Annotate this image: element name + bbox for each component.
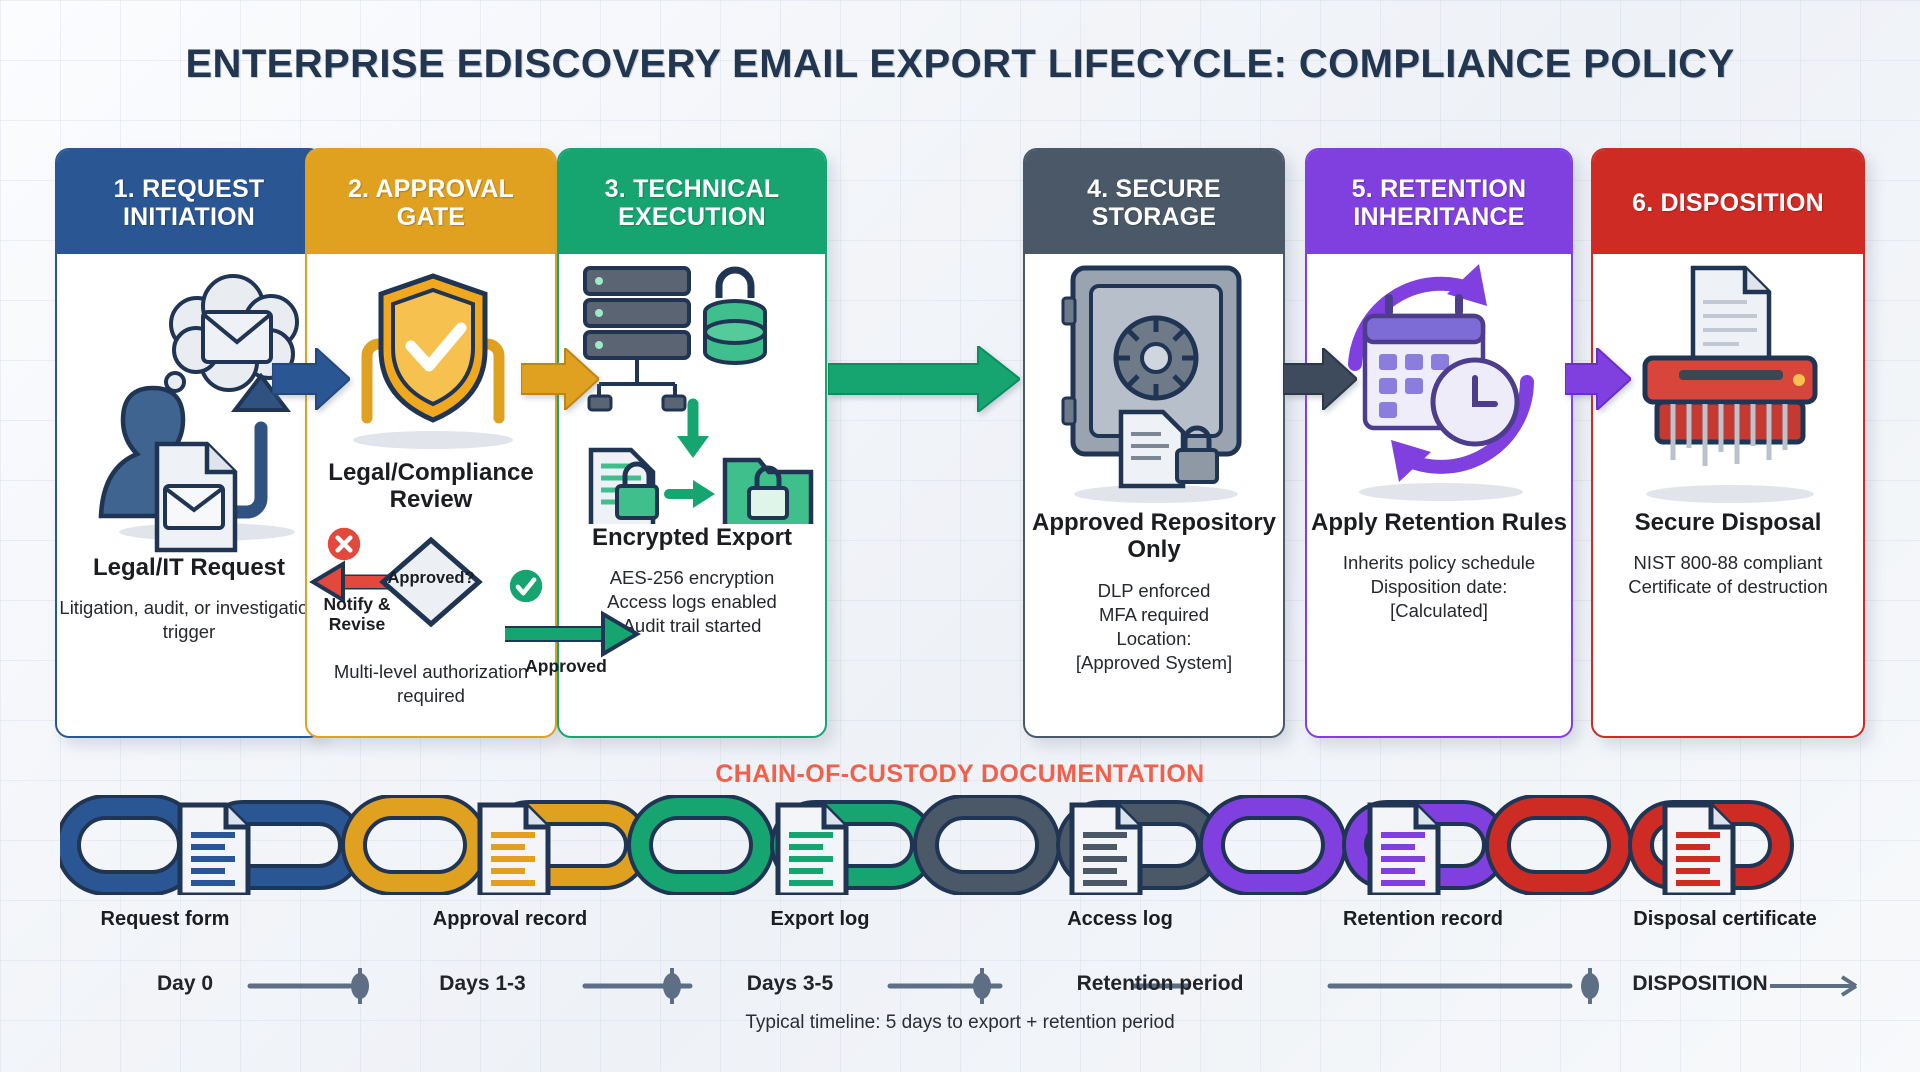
stage-card-header: 3. TECHNICAL EXECUTION (559, 150, 825, 254)
chain-of-custody-graphic (60, 795, 1860, 895)
stage-card-heading: Apply Retention Rules (1311, 509, 1567, 536)
timeline-segment: Days 1-3 (390, 972, 575, 996)
chain-item-label: Request form (35, 908, 295, 931)
stage-card-disposition[interactable]: 6. DISPOSITION (1591, 148, 1865, 738)
stage-connector-arrow-4 (1283, 348, 1357, 410)
chain-item-label: Access log (990, 908, 1250, 931)
decision-label: Approved? (365, 569, 497, 588)
stage-card-description: DLP enforced MFA required Location: [App… (1076, 579, 1232, 675)
document-approval-icon (480, 805, 548, 895)
chain-item-label: Export log (690, 908, 950, 931)
chain-of-custody-labels: Request form Approval record Export log … (0, 908, 1920, 938)
stage-connector-arrow-2 (521, 348, 599, 410)
decision-reject-label: Notify & Revise (305, 594, 409, 634)
safe-vault-lock-icon (1025, 254, 1283, 509)
stage-card-header: 5. RETENTION INHERITANCE (1307, 150, 1571, 254)
stage-card-retention-inheritance[interactable]: 5. RETENTION INHERITANCE (1305, 148, 1573, 738)
stage-card-heading: Approved Repository Only (1025, 509, 1283, 564)
stage-card-header: 2. APPROVAL GATE (307, 150, 555, 254)
stage-card-heading: Secure Disposal (1635, 509, 1822, 536)
chain-item-label: Disposal certificate (1595, 908, 1855, 931)
stage-card-heading: Legal/Compliance Review (307, 459, 555, 514)
paper-shredder-icon (1593, 254, 1863, 509)
page-title: ENTERPRISE EDISCOVERY EMAIL EXPORT LIFEC… (0, 42, 1920, 87)
timeline: Day 0 Days 1-3 Days 3-5 Retention period… (0, 960, 1920, 1010)
timeline-segment: Day 0 (120, 972, 250, 996)
timeline-segment: DISPOSITION (1600, 972, 1800, 996)
check-circle-icon (508, 568, 544, 604)
stage-card-heading: Legal/IT Request (93, 554, 285, 581)
stage-card-header: 6. DISPOSITION (1593, 150, 1863, 254)
document-retention-icon (1370, 805, 1438, 895)
stage-card-header: 1. REQUEST INITIATION (57, 150, 321, 254)
chain-item-label: Retention record (1293, 908, 1553, 931)
stage-connector-arrow-3 (828, 346, 1020, 412)
stage-card-description: Litigation, audit, or investigation trig… (57, 596, 321, 644)
timeline-footnote: Typical timeline: 5 days to export + ret… (0, 1012, 1920, 1034)
document-lines-icon (180, 805, 248, 895)
stage-card-secure-storage[interactable]: 4. SECURE STORAGE (1023, 148, 1285, 738)
chain-item-label: Approval record (380, 908, 640, 931)
lifecycle-stage-row: 1. REQUEST INITIATION (0, 148, 1920, 748)
approved-branch-arrow (505, 604, 645, 660)
stage-card-description: NIST 800-88 compliant Certificate of des… (1628, 551, 1827, 599)
decision-accept-label: Approved (506, 656, 626, 677)
infographic-canvas: ENTERPRISE EDISCOVERY EMAIL EXPORT LIFEC… (0, 0, 1920, 1072)
stage-connector-arrow-5 (1565, 348, 1631, 410)
stage-card-header: 4. SECURE STORAGE (1025, 150, 1283, 254)
timeline-segment: Days 3-5 (700, 972, 880, 996)
document-log-icon (778, 805, 846, 895)
document-access-icon (1072, 805, 1140, 895)
stage-card-description: Inherits policy schedule Disposition dat… (1343, 551, 1535, 623)
stage-card-heading: Encrypted Export (592, 524, 792, 551)
chain-of-custody-title: CHAIN-OF-CUSTODY DOCUMENTATION (0, 760, 1920, 789)
stage-connector-arrow-1 (272, 348, 350, 410)
timeline-segment: Retention period (1000, 972, 1320, 996)
x-circle-icon (326, 526, 362, 562)
document-certificate-icon (1665, 805, 1733, 895)
stage-card-request-initiation[interactable]: 1. REQUEST INITIATION (55, 148, 323, 738)
